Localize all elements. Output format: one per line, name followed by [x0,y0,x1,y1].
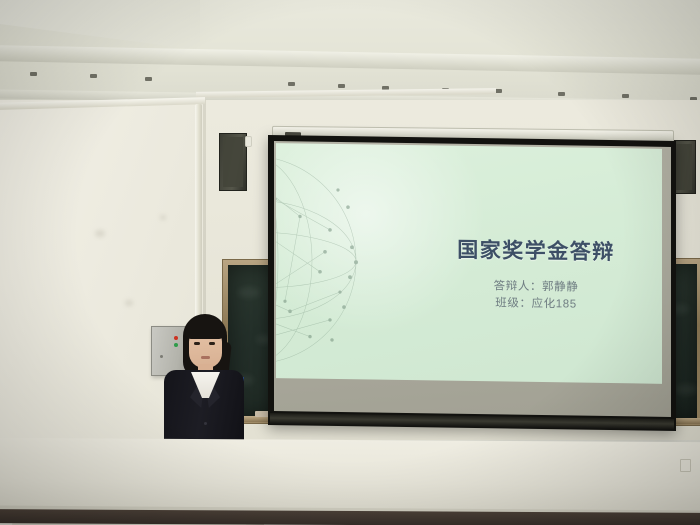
chalk-smudge [675,384,697,395]
projected-slide: 国家奖学金答辩 答辩人：郭静静 班级：应化185 [276,143,662,384]
hair-fringe [185,317,225,339]
wall-smudge [160,215,166,220]
wall-speaker-left [219,133,247,191]
ceiling-bolt [288,82,295,86]
eye-right [209,342,215,345]
network-globe-graphic [276,150,390,371]
speaker-mount-left [245,136,252,147]
ceiling-bolt [558,92,565,96]
ceiling-bolt [338,84,345,88]
ceiling-bolt [30,72,37,76]
ceiling-bolt [145,77,152,81]
ceiling-bolt [495,89,502,93]
wall-smudge [125,300,133,306]
jacket-button [204,422,207,425]
projection-screen: 国家奖学金答辩 答辩人：郭静静 班级：应化185 [268,135,676,431]
power-outlet [680,459,691,472]
slide-class-line: 班级：应化185 [416,294,656,315]
eye-left [194,342,200,345]
wall-smudge [95,230,105,237]
slide-title: 国家奖学金答辩 [416,233,656,267]
classroom-photo: 国家奖学金答辩 答辩人：郭静静 班级：应化185 [0,0,700,525]
ceiling-bolt [90,74,97,78]
stage-front-wall [0,438,700,514]
floor [0,509,700,525]
slide-subtitle: 答辩人：郭静静 班级：应化185 [416,277,656,315]
wall-conduit-pipe [195,104,202,319]
ceiling-bolt [622,94,629,98]
mouth [201,356,210,359]
speaker-grille [223,137,243,187]
chalk-smudge [238,287,260,298]
